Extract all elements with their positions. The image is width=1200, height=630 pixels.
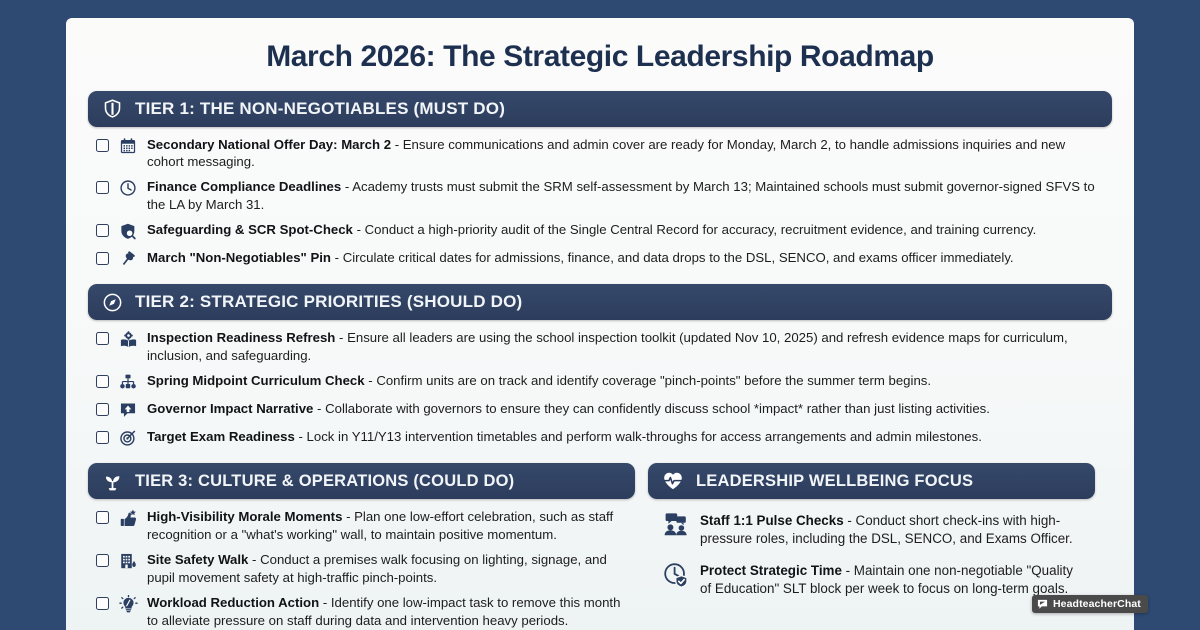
shield-icon: [102, 98, 123, 119]
list-item[interactable]: Workload Reduction Action - Identify one…: [96, 594, 627, 630]
list-item[interactable]: Secondary National Offer Day: March 2 - …: [96, 136, 1104, 172]
page-title: March 2026: The Strategic Leadership Roa…: [88, 18, 1112, 87]
list-item[interactable]: Staff 1:1 Pulse Checks - Conduct short c…: [656, 512, 1087, 548]
tier-2-items: Inspection Readiness Refresh - Ensure al…: [88, 320, 1112, 449]
list-item[interactable]: Protect Strategic Time - Maintain one no…: [656, 562, 1087, 598]
wellbeing-header: LEADERSHIP WELLBEING FOCUS: [648, 463, 1095, 499]
item-text: Secondary National Offer Day: March 2 - …: [147, 136, 1104, 172]
sitemap-icon: [117, 373, 139, 393]
item-checkbox[interactable]: [96, 431, 109, 444]
item-text: Protect Strategic Time - Maintain one no…: [700, 562, 1087, 598]
item-text: Safeguarding & SCR Spot-Check - Conduct …: [147, 221, 1104, 239]
item-text: March "Non-Negotiables" Pin - Circulate …: [147, 249, 1104, 267]
headteacherchat-logo-icon: [1037, 599, 1048, 610]
tier-2-header: TIER 2: STRATEGIC PRIORITIES (SHOULD DO): [88, 284, 1112, 320]
tier-3-header: TIER 3: CULTURE & OPERATIONS (COULD DO): [88, 463, 635, 499]
item-title: High-Visibility Morale Moments: [147, 509, 342, 524]
item-checkbox[interactable]: [96, 511, 109, 524]
item-text: Workload Reduction Action - Identify one…: [147, 594, 627, 630]
watermark-label: HeadteacherChat: [1053, 598, 1141, 610]
tier-1-header: TIER 1: THE NON-NEGOTIABLES (MUST DO): [88, 91, 1112, 127]
tier-1-section: TIER 1: THE NON-NEGOTIABLES (MUST DO): [88, 91, 1112, 271]
roadmap-card: March 2026: The Strategic Leadership Roa…: [66, 18, 1134, 630]
item-text: Governor Impact Narrative - Collaborate …: [147, 400, 1104, 418]
list-item[interactable]: Site Safety Walk - Conduct a premises wa…: [96, 551, 627, 587]
tier-2-section: TIER 2: STRATEGIC PRIORITIES (SHOULD DO): [88, 284, 1112, 449]
list-item[interactable]: Safeguarding & SCR Spot-Check - Conduct …: [96, 221, 1104, 242]
item-checkbox[interactable]: [96, 139, 109, 152]
compass-icon: [102, 292, 123, 313]
item-body: - Confirm units are on track and identif…: [365, 373, 931, 388]
list-item[interactable]: High-Visibility Morale Moments - Plan on…: [96, 508, 627, 544]
list-item[interactable]: Spring Midpoint Curriculum Check - Confi…: [96, 372, 1104, 393]
building-icon: [117, 552, 139, 572]
clock-shield-icon: [662, 562, 690, 588]
wellbeing-label: LEADERSHIP WELLBEING FOCUS: [696, 472, 973, 491]
wellbeing-section: LEADERSHIP WELLBEING FOCUS: [648, 463, 1095, 630]
speech-bubble-arrow-icon: [117, 401, 139, 421]
lightbulb-icon: [117, 595, 139, 615]
item-text: Spring Midpoint Curriculum Check - Confi…: [147, 372, 1104, 390]
item-title: Safeguarding & SCR Spot-Check: [147, 222, 353, 237]
wellbeing-items: Staff 1:1 Pulse Checks - Conduct short c…: [648, 499, 1095, 598]
item-title: Finance Compliance Deadlines: [147, 179, 341, 194]
calendar-icon: [117, 137, 139, 157]
tier-3-label: TIER 3: CULTURE & OPERATIONS (COULD DO): [135, 472, 514, 491]
item-body: - Collaborate with governors to ensure t…: [313, 401, 990, 416]
item-title: March "Non-Negotiables" Pin: [147, 250, 331, 265]
seedling-icon: [102, 471, 123, 492]
target-icon: [117, 429, 139, 449]
item-title: Workload Reduction Action: [147, 595, 319, 610]
item-text: Site Safety Walk - Conduct a premises wa…: [147, 551, 627, 587]
item-text: Staff 1:1 Pulse Checks - Conduct short c…: [700, 512, 1087, 548]
item-title: Inspection Readiness Refresh: [147, 330, 335, 345]
item-title: Staff 1:1 Pulse Checks: [700, 513, 844, 528]
list-item[interactable]: Finance Compliance Deadlines - Academy t…: [96, 178, 1104, 214]
item-text: High-Visibility Morale Moments - Plan on…: [147, 508, 627, 544]
tier-2-label: TIER 2: STRATEGIC PRIORITIES (SHOULD DO): [135, 292, 522, 312]
item-body: - Conduct a high-priority audit of the S…: [353, 222, 1036, 237]
tier-3-items: High-Visibility Morale Moments - Plan on…: [88, 499, 635, 630]
item-text: Target Exam Readiness - Lock in Y11/Y13 …: [147, 428, 1104, 446]
item-body: - Circulate critical dates for admission…: [331, 250, 1014, 265]
people-chat-icon: [662, 512, 690, 538]
item-checkbox[interactable]: [96, 375, 109, 388]
item-checkbox[interactable]: [96, 181, 109, 194]
item-title: Target Exam Readiness: [147, 429, 295, 444]
pushpin-icon: [117, 250, 139, 270]
list-item[interactable]: Governor Impact Narrative - Collaborate …: [96, 400, 1104, 421]
item-checkbox[interactable]: [96, 224, 109, 237]
poster-canvas: March 2026: The Strategic Leadership Roa…: [0, 0, 1200, 630]
list-item[interactable]: Target Exam Readiness - Lock in Y11/Y13 …: [96, 428, 1104, 449]
tier-3-section: TIER 3: CULTURE & OPERATIONS (COULD DO): [88, 463, 635, 630]
item-body: - Lock in Y11/Y13 intervention timetable…: [295, 429, 982, 444]
item-checkbox[interactable]: [96, 252, 109, 265]
book-gear-icon: [117, 330, 139, 350]
item-checkbox[interactable]: [96, 597, 109, 610]
item-title: Protect Strategic Time: [700, 563, 842, 578]
item-title: Secondary National Offer Day: March 2: [147, 137, 391, 152]
heart-pulse-icon: [662, 470, 684, 492]
tier-1-label: TIER 1: THE NON-NEGOTIABLES (MUST DO): [135, 99, 505, 119]
item-text: Inspection Readiness Refresh - Ensure al…: [147, 329, 1104, 365]
shield-search-icon: [117, 222, 139, 242]
list-item[interactable]: March "Non-Negotiables" Pin - Circulate …: [96, 249, 1104, 270]
item-title: Spring Midpoint Curriculum Check: [147, 373, 365, 388]
bottom-row: TIER 3: CULTURE & OPERATIONS (COULD DO): [88, 463, 1112, 630]
item-title: Site Safety Walk: [147, 552, 248, 567]
thumbs-up-star-icon: [117, 509, 139, 529]
clock-icon: [117, 179, 139, 199]
item-checkbox[interactable]: [96, 403, 109, 416]
item-checkbox[interactable]: [96, 332, 109, 345]
item-title: Governor Impact Narrative: [147, 401, 313, 416]
tier-1-items: Secondary National Offer Day: March 2 - …: [88, 127, 1112, 271]
watermark-badge[interactable]: HeadteacherChat: [1032, 595, 1148, 613]
item-checkbox[interactable]: [96, 554, 109, 567]
list-item[interactable]: Inspection Readiness Refresh - Ensure al…: [96, 329, 1104, 365]
item-text: Finance Compliance Deadlines - Academy t…: [147, 178, 1104, 214]
